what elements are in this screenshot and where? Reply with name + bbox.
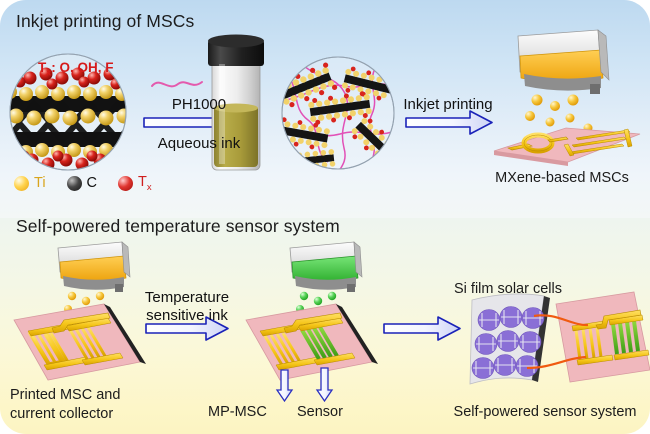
mpmsc-sensor-substrate (246, 304, 378, 401)
legend-label-tx: Tx (138, 175, 152, 192)
mxene-msc-caption: MXene-based MSCs (495, 170, 629, 186)
sphere-icon-tx (118, 176, 133, 191)
legend-label-c: C (87, 176, 97, 191)
system-caption: Self-powered sensor system (454, 404, 637, 420)
panel-top-title: Inkjet printing of MSCs (16, 11, 194, 32)
arrow-to-system (384, 317, 460, 340)
mxene-msc-substrate (494, 128, 640, 166)
arrow2-label-top: Inkjet printing (403, 96, 492, 113)
sensor-label: Sensor (297, 404, 343, 420)
sphere-icon-c (67, 176, 82, 191)
solar-cells-label: Si film solar cells (454, 281, 562, 297)
legend-label-ti: Ti (34, 176, 46, 191)
atom-legend: Ti C Tx (14, 175, 152, 192)
legend-item-c: C (67, 176, 97, 191)
ink-droplets-yellow (525, 95, 593, 133)
bottom-arrow1-label-line2: sensitive ink (146, 307, 228, 324)
mxene-dispersion-circle (273, 57, 400, 176)
panel-bottom-title: Self-powered temperature sensor system (16, 216, 340, 237)
printed-msc-substrate (14, 304, 146, 380)
si-film-solar-cells (470, 294, 550, 384)
figure-canvas: Inkjet printing of MSCs Self-powered tem… (0, 0, 650, 434)
step1-caption-line1: Printed MSC and (10, 387, 120, 403)
arrow-inkjet-printing (406, 111, 492, 134)
surface-group-label: Tx: O, OH, F (38, 60, 114, 78)
step1-caption-line2: current collector (10, 406, 113, 422)
sphere-icon-ti (14, 176, 29, 191)
legend-item-ti: Ti (14, 176, 46, 191)
polymer-squiggle-icon (152, 82, 202, 86)
mpmsc-label: MP-MSC (208, 404, 267, 420)
printhead-cartridge-yellow (518, 30, 609, 133)
arrow1-label-bottom: Aqueous ink (158, 135, 241, 152)
legend-item-tx: Tx (118, 175, 152, 192)
arrow1-label-top: PH1000 (172, 96, 226, 113)
bottom-arrow1-label-line1: Temperature (145, 289, 229, 306)
